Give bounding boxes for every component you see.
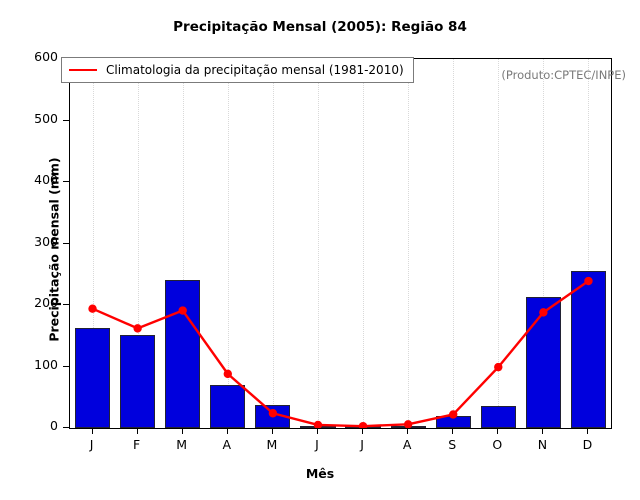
climatology-point-A-7	[404, 420, 412, 428]
x-tick-mark	[542, 428, 543, 434]
climatology-markers	[88, 277, 592, 428]
y-tick-label: 200	[12, 295, 58, 310]
x-tick-mark	[362, 428, 363, 434]
x-tick-label-A-7: A	[387, 437, 427, 452]
y-tick-label: 300	[12, 234, 58, 249]
chart-figure: Precipitação Mensal (2005): Região 84 Pr…	[0, 0, 640, 500]
plot-area	[69, 58, 612, 429]
climatology-point-D-11	[584, 277, 592, 285]
climatology-point-N-10	[539, 308, 547, 316]
x-tick-mark	[137, 428, 138, 434]
climatology-point-M-2	[179, 306, 187, 314]
climatology-polyline	[93, 281, 589, 426]
climatology-point-S-8	[449, 410, 457, 418]
x-tick-label-O-9: O	[477, 437, 517, 452]
y-tick-label: 600	[12, 49, 58, 64]
x-tick-label-A-3: A	[207, 437, 247, 452]
x-tick-label-J-0: J	[72, 437, 112, 452]
climatology-point-M-4	[269, 409, 277, 417]
climatology-point-J-0	[88, 304, 96, 312]
legend-entry-label: Climatologia da precipitação mensal (198…	[106, 63, 404, 77]
x-tick-mark	[182, 428, 183, 434]
climatology-point-J-5	[314, 421, 322, 428]
climatology-point-A-3	[224, 370, 232, 378]
y-tick-label: 100	[12, 357, 58, 372]
climatology-point-O-9	[494, 363, 502, 371]
y-tick-label: 500	[12, 111, 58, 126]
x-tick-label-M-4: M	[252, 437, 292, 452]
x-tick-label-S-8: S	[432, 437, 472, 452]
climatology-line-series	[70, 59, 611, 428]
x-tick-label-J-6: J	[342, 437, 382, 452]
climatology-point-J-6	[359, 422, 367, 428]
x-tick-label-M-2: M	[162, 437, 202, 452]
x-axis-label: Mês	[0, 466, 640, 481]
x-tick-label-N-10: N	[522, 437, 562, 452]
x-tick-mark	[407, 428, 408, 434]
y-axis-label: Precipitação mensal (mm)	[47, 100, 62, 400]
climatology-point-F-1	[133, 324, 141, 332]
chart-title: Precipitação Mensal (2005): Região 84	[0, 19, 640, 35]
x-tick-label-J-5: J	[297, 437, 337, 452]
x-tick-label-D-11: D	[567, 437, 607, 452]
source-annotation: (Produto:CPTEC/INPE)	[501, 68, 626, 82]
x-tick-label-F-1: F	[117, 437, 157, 452]
x-tick-mark	[317, 428, 318, 434]
legend-line-swatch-icon	[69, 69, 97, 71]
x-tick-mark	[587, 428, 588, 434]
x-tick-mark	[452, 428, 453, 434]
x-tick-mark	[92, 428, 93, 434]
y-tick-label: 400	[12, 172, 58, 187]
x-tick-mark	[497, 428, 498, 434]
plot-inner	[70, 59, 611, 428]
y-tick-label: 0	[12, 418, 58, 433]
chart-legend: Climatologia da precipitação mensal (198…	[61, 57, 414, 83]
x-tick-mark	[227, 428, 228, 434]
x-tick-mark	[272, 428, 273, 434]
